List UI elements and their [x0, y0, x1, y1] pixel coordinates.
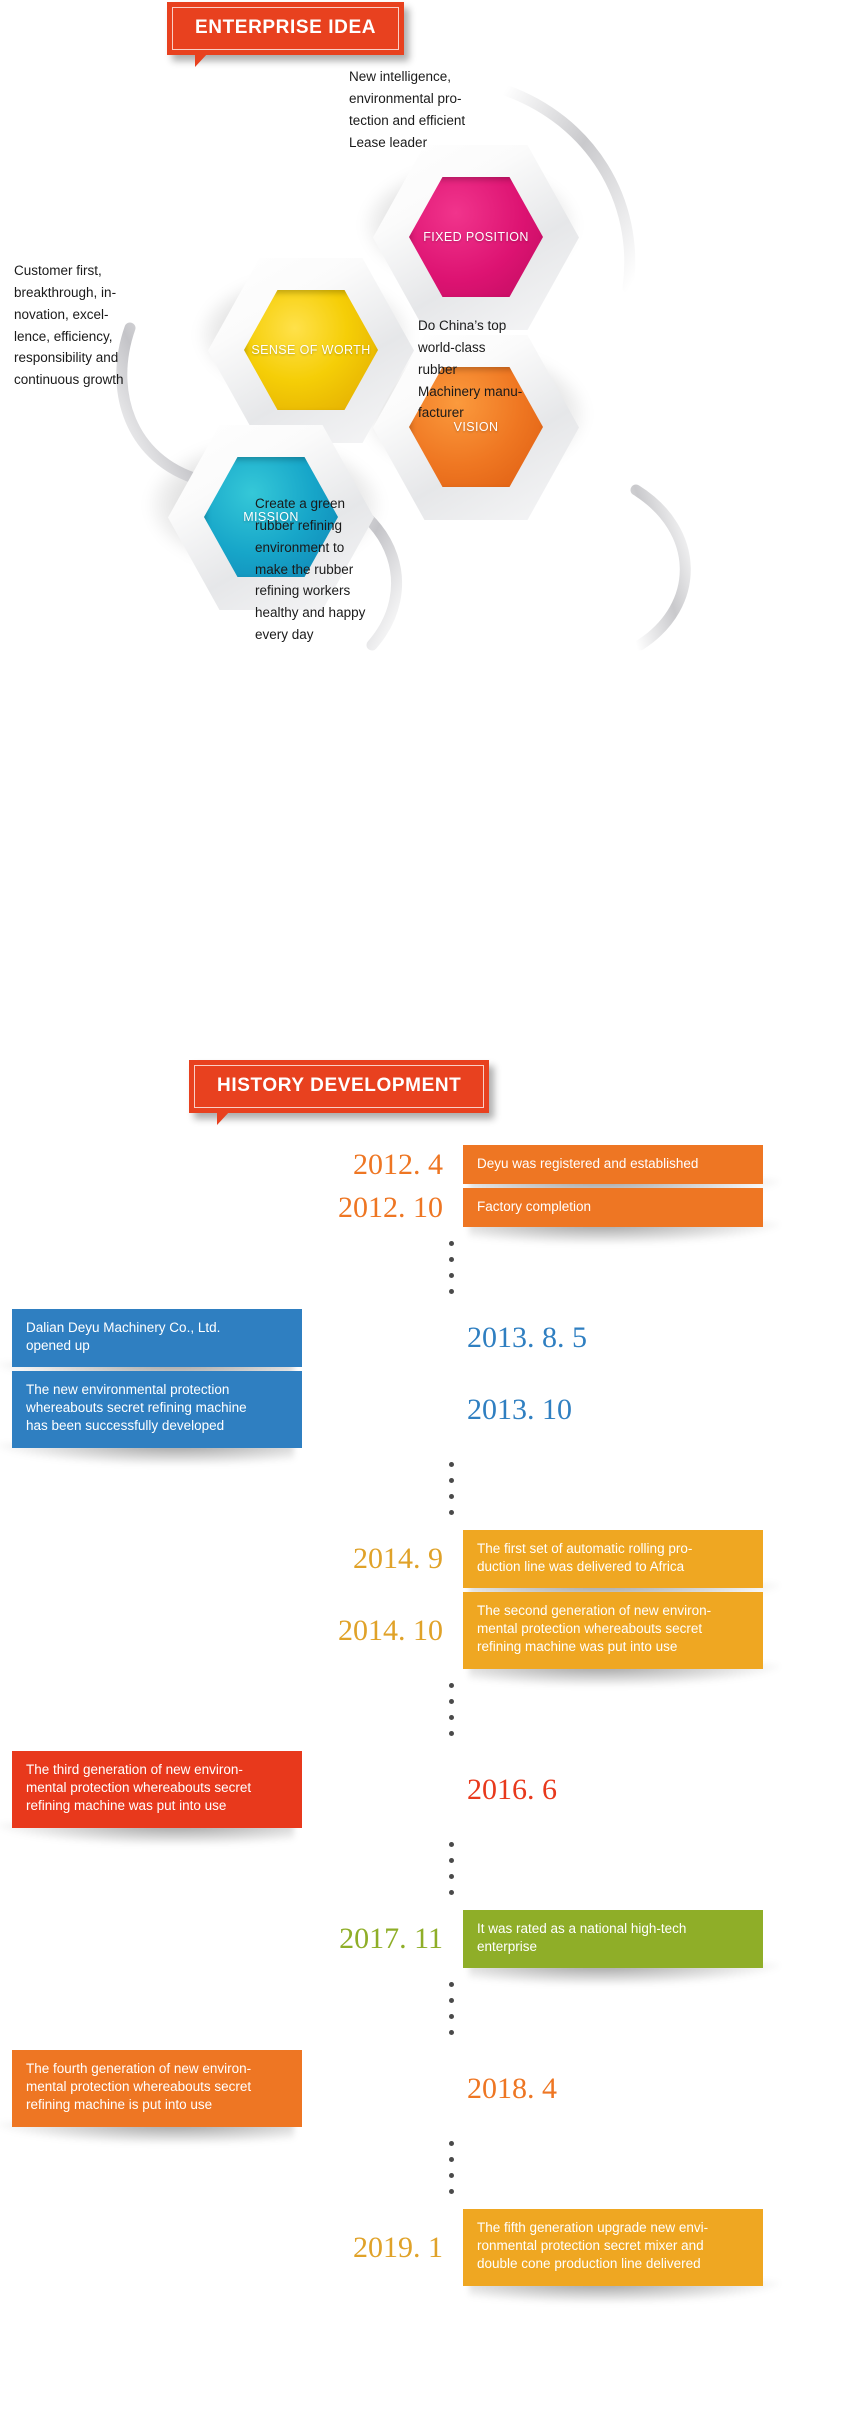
timeline-event-box[interactable]: Dalian Deyu Machinery Co., Ltd.opened up — [12, 1309, 302, 1367]
callout-line: Do China’s top — [418, 315, 598, 337]
callout-line: world-class — [418, 337, 598, 359]
callout-fixed-position: New intelligence, environmental pro- tec… — [349, 66, 534, 153]
enterprise-idea-banner: ENTERPRISE IDEA — [167, 2, 404, 55]
timeline-dot — [449, 1257, 454, 1262]
callout-line: lence, efficiency, — [14, 326, 174, 348]
banner-tail-icon — [217, 1111, 243, 1125]
callout-line: novation, excel- — [14, 304, 174, 326]
timeline-date: 2012. 4 — [353, 1150, 443, 1180]
timeline-event-box[interactable]: Deyu was registered and established — [463, 1145, 763, 1184]
timeline-dot — [449, 1731, 454, 1736]
timeline-dot — [449, 2157, 454, 2162]
enterprise-idea-diagram: FIXED POSITION SENSE OF WORTH VISION MIS… — [0, 60, 846, 660]
timeline-dot — [449, 1982, 454, 1987]
timeline-event-line: refining machine was put into use — [26, 1797, 288, 1815]
timeline-dotted-connector — [449, 1462, 454, 1515]
timeline-event-line: refining machine was put into use — [477, 1638, 749, 1656]
callout-line: every day — [255, 624, 435, 646]
timeline-dot — [449, 1241, 454, 1246]
timeline-event-line: The new environmental protection — [26, 1381, 288, 1399]
timeline-event-box[interactable]: The fifth generation upgrade new envi-ro… — [463, 2209, 763, 2286]
timeline-dot — [449, 1874, 454, 1879]
timeline-event-box[interactable]: The fourth generation of new environ-men… — [12, 2050, 302, 2127]
timeline-dot — [449, 2030, 454, 2035]
timeline-event-line: It was rated as a national high-tech — [477, 1920, 749, 1938]
timeline-dotted-connector — [449, 1241, 454, 1294]
timeline-event-line: has been successfully developed — [26, 1417, 288, 1435]
timeline-event-box[interactable]: The first set of automatic rolling pro-d… — [463, 1530, 763, 1588]
callout-line: Machinery manu- — [418, 381, 598, 403]
callout-line: environmental pro- — [349, 88, 534, 110]
timeline-event-line: The third generation of new environ- — [26, 1761, 288, 1779]
callout-sense-of-worth: Customer first, breakthrough, in- novati… — [14, 260, 174, 391]
timeline-date: 2019. 1 — [353, 2233, 443, 2263]
timeline-event-line: The first set of automatic rolling pro- — [477, 1540, 749, 1558]
history-development-banner: HISTORY DEVELOPMENT — [189, 1060, 489, 1113]
timeline-dot — [449, 1683, 454, 1688]
timeline-date: 2016. 6 — [467, 1775, 557, 1805]
timeline-event-line: double cone production line delivered — [477, 2255, 749, 2273]
enterprise-idea-title: ENTERPRISE IDEA — [195, 17, 376, 38]
callout-line: rubber refining — [255, 515, 435, 537]
timeline-dot — [449, 1494, 454, 1499]
history-development-title: HISTORY DEVELOPMENT — [217, 1075, 461, 1096]
timeline-dotted-connector — [449, 2141, 454, 2194]
timeline-event-line: Deyu was registered and established — [477, 1155, 749, 1173]
timeline-dot — [449, 1478, 454, 1483]
timeline-dot — [449, 1510, 454, 1515]
callout-line: healthy and happy — [255, 602, 435, 624]
banner-box: ENTERPRISE IDEA — [167, 2, 404, 55]
callout-line: responsibility and — [14, 347, 174, 369]
banner-inner: ENTERPRISE IDEA — [172, 7, 399, 50]
timeline-event-line: refining machine is put into use — [26, 2096, 288, 2114]
timeline-event-line: ronmental protection secret mixer and — [477, 2237, 749, 2255]
timeline-dotted-connector — [449, 1683, 454, 1736]
timeline-date: 2018. 4 — [467, 2074, 557, 2104]
callout-line: tection and efficient — [349, 110, 534, 132]
timeline-dotted-connector — [449, 1842, 454, 1895]
timeline-event-box[interactable]: It was rated as a national high-techente… — [463, 1910, 763, 1968]
callout-line: Create a green — [255, 493, 435, 515]
timeline-event-line: mental protection whereabouts secret — [26, 2078, 288, 2096]
callout-line: breakthrough, in- — [14, 282, 174, 304]
timeline-dot — [449, 1890, 454, 1895]
timeline-date: 2012. 10 — [338, 1193, 443, 1223]
timeline-dot — [449, 1998, 454, 2003]
callout-line: Customer first, — [14, 260, 174, 282]
timeline-event-box[interactable]: The new environmental protectionwhereabo… — [12, 1371, 302, 1448]
timeline-dot — [449, 1699, 454, 1704]
timeline-dot — [449, 1858, 454, 1863]
timeline-event-line: Dalian Deyu Machinery Co., Ltd. — [26, 1319, 288, 1337]
callout-line: continuous growth — [14, 369, 174, 391]
timeline-event-line: duction line was delivered to Africa — [477, 1558, 749, 1576]
history-timeline: 2012. 4Deyu was registered and establish… — [0, 1145, 846, 2290]
callout-line: rubber — [418, 359, 598, 381]
callout-line: refining workers — [255, 580, 435, 602]
timeline-date: 2013. 8. 5 — [467, 1323, 587, 1353]
timeline-date: 2017. 11 — [339, 1924, 443, 1954]
timeline-dot — [449, 1289, 454, 1294]
timeline-event-line: enterprise — [477, 1938, 749, 1956]
timeline-event-line: mental protection whereabouts secret — [477, 1620, 749, 1638]
timeline-dotted-connector — [449, 1982, 454, 2035]
callout-line: facturer — [418, 402, 598, 424]
callout-mission: Create a green rubber refining environme… — [255, 493, 435, 646]
timeline-event-line: opened up — [26, 1337, 288, 1355]
timeline-event-box[interactable]: The second generation of new environ-men… — [463, 1592, 763, 1669]
timeline-event-line: whereabouts secret refining machine — [26, 1399, 288, 1417]
timeline-dot — [449, 1462, 454, 1467]
callout-vision: Do China’s top world-class rubber Machin… — [418, 315, 598, 424]
callout-line: make the rubber — [255, 559, 435, 581]
timeline-dot — [449, 2189, 454, 2194]
timeline-event-line: mental protection whereabouts secret — [26, 1779, 288, 1797]
banner-box: HISTORY DEVELOPMENT — [189, 1060, 489, 1113]
timeline-date: 2014. 10 — [338, 1616, 443, 1646]
timeline-event-line: The fourth generation of new environ- — [26, 2060, 288, 2078]
timeline-dot — [449, 2173, 454, 2178]
timeline-event-box[interactable]: Factory completion — [463, 1188, 763, 1227]
timeline-dot — [449, 2141, 454, 2146]
timeline-event-line: Factory completion — [477, 1198, 749, 1216]
timeline-event-box[interactable]: The third generation of new environ-ment… — [12, 1751, 302, 1828]
banner-inner: HISTORY DEVELOPMENT — [194, 1065, 484, 1108]
timeline-dot — [449, 1273, 454, 1278]
timeline-dot — [449, 2014, 454, 2019]
timeline-dot — [449, 1715, 454, 1720]
timeline-date: 2014. 9 — [353, 1544, 443, 1574]
timeline-event-line: The fifth generation upgrade new envi- — [477, 2219, 749, 2237]
callout-line: environment to — [255, 537, 435, 559]
timeline-date: 2013. 10 — [467, 1395, 572, 1425]
timeline-dot — [449, 1842, 454, 1847]
callout-line: New intelligence, — [349, 66, 534, 88]
callout-line: Lease leader — [349, 132, 534, 154]
timeline-event-line: The second generation of new environ- — [477, 1602, 749, 1620]
